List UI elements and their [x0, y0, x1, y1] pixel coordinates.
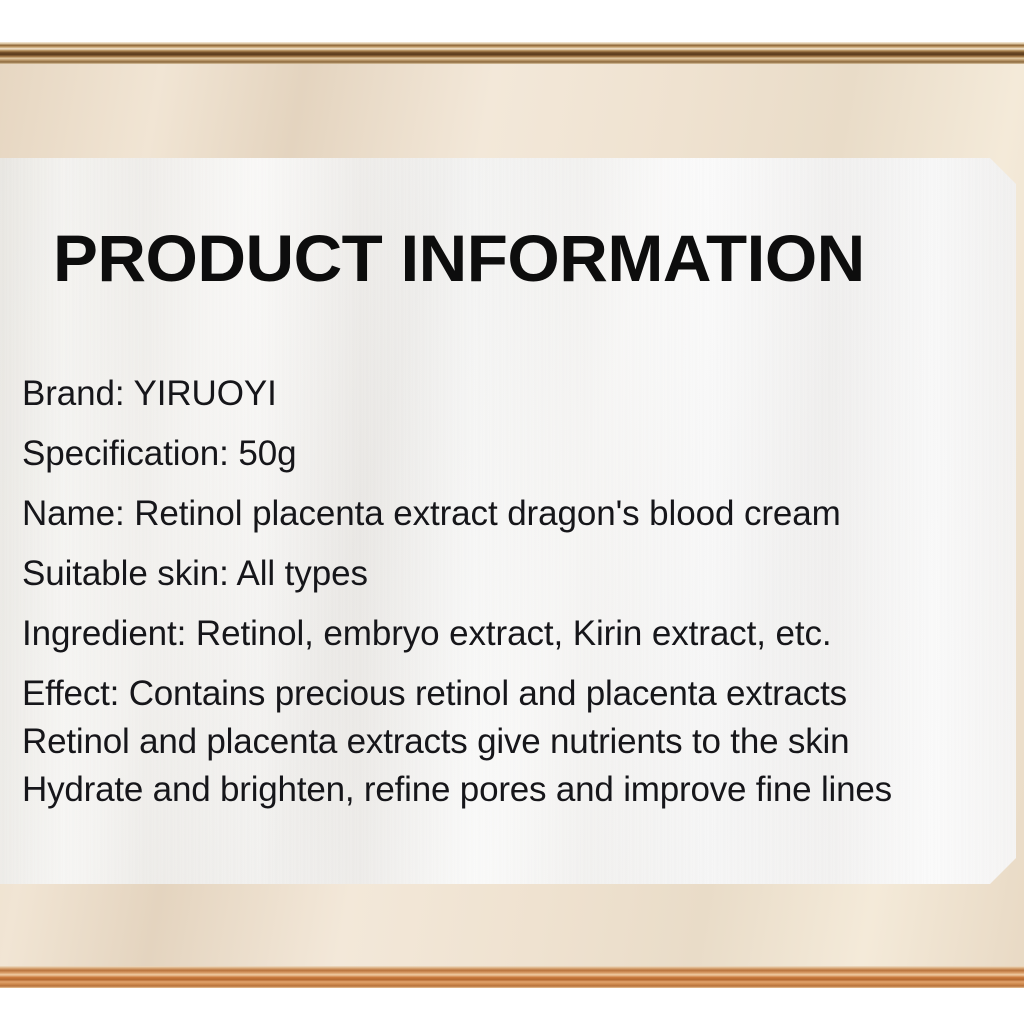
effect-description-block: Effect: Contains precious retinol and pl…	[22, 670, 1024, 814]
spec-row-specification: Specification: 50g	[22, 424, 1022, 484]
spec-row-brand: Brand: YIRUOYI	[22, 364, 1022, 424]
spec-row-name: Name: Retinol placenta extract dragon's …	[22, 484, 1022, 544]
spec-row-ingredient: Ingredient: Retinol, embryo extract, Kir…	[22, 604, 1022, 664]
spec-row-suitable-skin: Suitable skin: All types	[22, 544, 1022, 604]
bottom-copper-rule-divider	[0, 966, 1024, 988]
effect-line-2: Retinol and placenta extracts give nutri…	[22, 718, 1024, 766]
card-content-area: PRODUCT INFORMATION Brand: YIRUOYI Speci…	[8, 158, 1024, 884]
specification-list: Brand: YIRUOYI Specification: 50g Name: …	[22, 364, 1022, 664]
product-information-banner: PRODUCT INFORMATION Brand: YIRUOYI Speci…	[0, 0, 1024, 1024]
effect-line-1: Effect: Contains precious retinol and pl…	[22, 670, 1024, 718]
page-title: PRODUCT INFORMATION	[53, 220, 865, 296]
top-gold-rule-divider	[0, 42, 1024, 64]
effect-line-3: Hydrate and brighten, refine pores and i…	[22, 766, 1024, 814]
